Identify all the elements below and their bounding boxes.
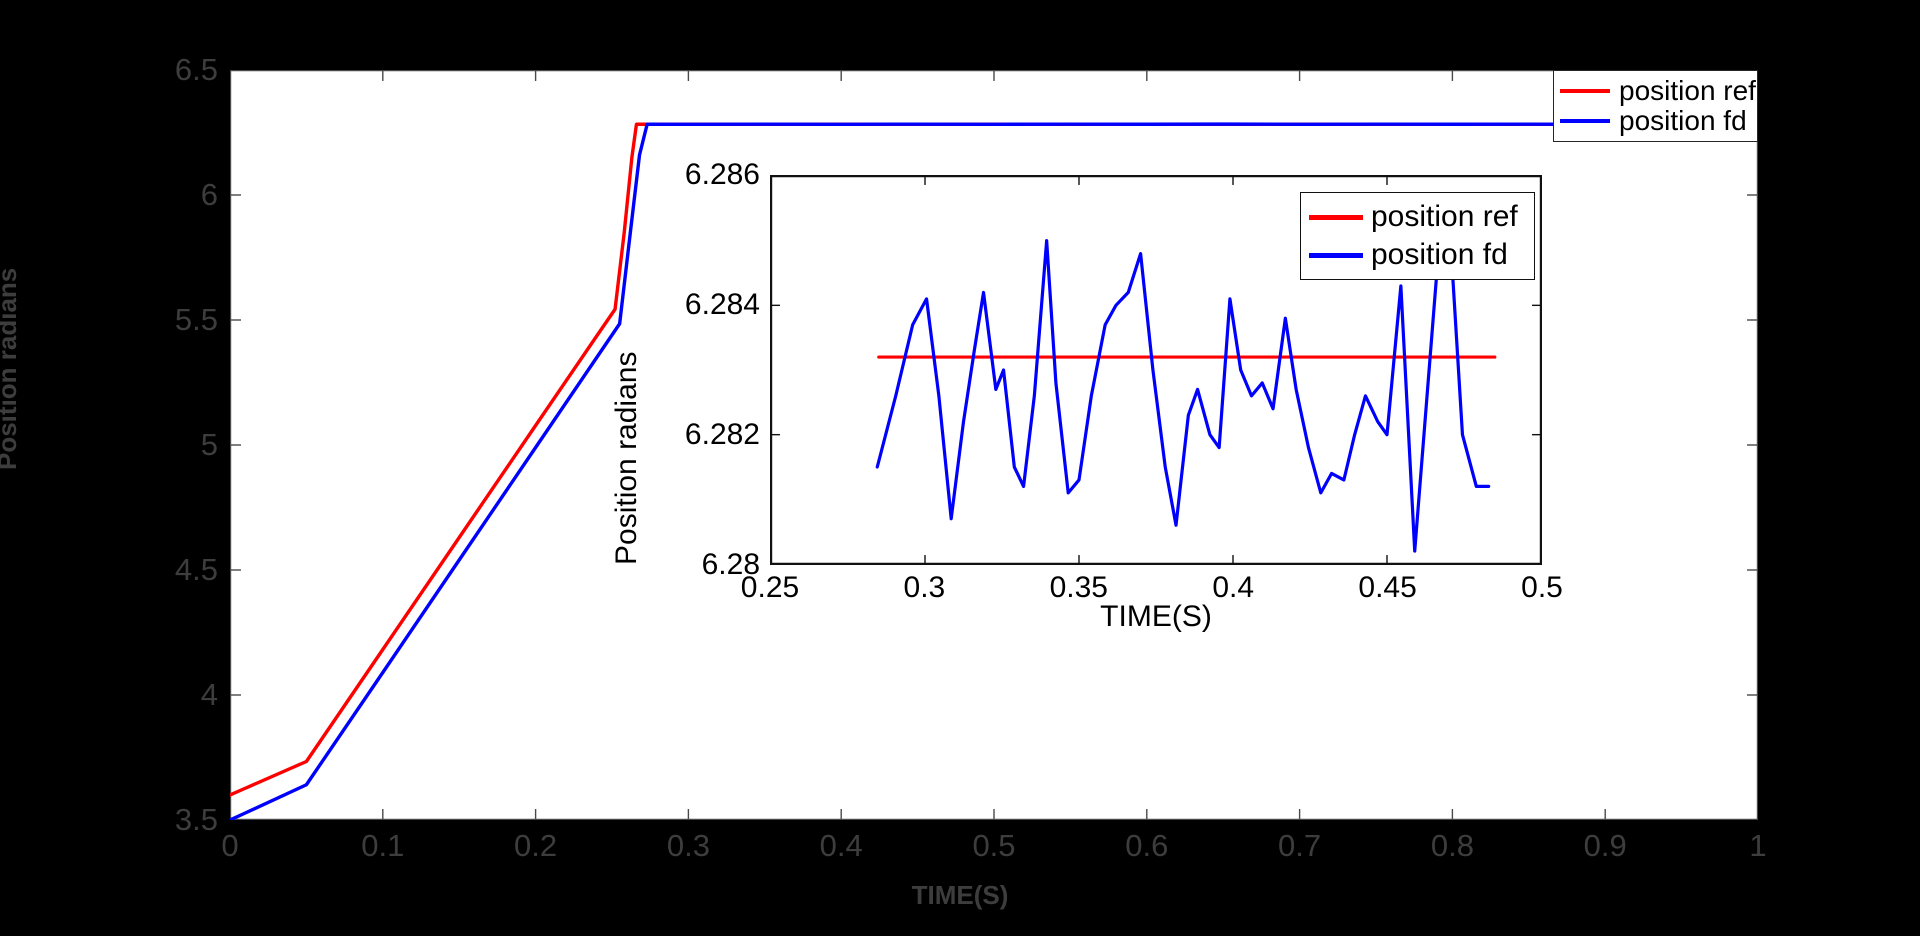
main-x-tick-label: 0.9 [1584,828,1627,864]
inset-legend-item-position-fd: position fd [1309,236,1534,274]
main-x-tick-label: 0.8 [1431,828,1474,864]
main-y-tick-label: 6.5 [175,52,218,88]
inset-y-tick-label: 6.284 [610,288,760,322]
inset-y-axis-label: Position radians [610,352,644,565]
main-x-tick-label: 0.1 [361,828,404,864]
inset-y-tick-label: 6.286 [610,158,760,192]
inset-legend-swatch-position-fd [1309,253,1363,258]
main-y-tick-label: 4.5 [175,552,218,588]
legend-swatch-position-ref [1560,89,1610,93]
main-y-tick-label: 4 [201,677,218,713]
figure-canvas: 3.544.555.566.5 00.10.20.30.40.50.60.70.… [0,0,1920,936]
inset-legend-swatch-position-ref [1309,215,1363,220]
inset-x-tick-label: 0.45 [1358,571,1416,605]
main-y-tick-label: 6 [201,177,218,213]
main-y-tick-label: 3.5 [175,802,218,838]
inset-x-tick-label: 0.3 [904,571,946,605]
main-x-tick-label: 0.5 [972,828,1015,864]
main-y-axis-label: Position radians [0,268,23,470]
inset-legend-label-position-fd: position fd [1371,238,1508,272]
main-x-tick-label: 0 [221,828,238,864]
inset-legend-label-position-ref: position ref [1371,200,1518,234]
legend-label-position-fd: position fd [1619,106,1747,136]
main-x-tick-label: 0.7 [1278,828,1321,864]
main-y-tick-label: 5.5 [175,302,218,338]
inset-x-tick-label: 0.5 [1521,571,1563,605]
inset-x-axis-label: TIME(S) [1100,600,1212,634]
inset-x-tick-label: 0.25 [741,571,799,605]
legend-swatch-position-fd [1560,119,1610,123]
main-x-tick-label: 1 [1749,828,1766,864]
inset-x-tick-label: 0.4 [1212,571,1254,605]
main-y-tick-label: 5 [201,427,218,463]
main-x-tick-label: 0.3 [667,828,710,864]
legend-label-position-ref: position ref [1619,76,1756,106]
main-legend: position ref position fd [1553,70,1758,142]
inset-legend-item-position-ref: position ref [1309,198,1534,236]
main-x-tick-label: 0.4 [820,828,863,864]
main-x-tick-label: 0.6 [1125,828,1168,864]
legend-item-position-fd: position fd [1560,106,1757,136]
legend-item-position-ref: position ref [1560,76,1757,106]
inset-legend: position ref position fd [1300,192,1535,280]
main-x-tick-label: 0.2 [514,828,557,864]
main-x-axis-label: TIME(S) [912,880,1009,911]
